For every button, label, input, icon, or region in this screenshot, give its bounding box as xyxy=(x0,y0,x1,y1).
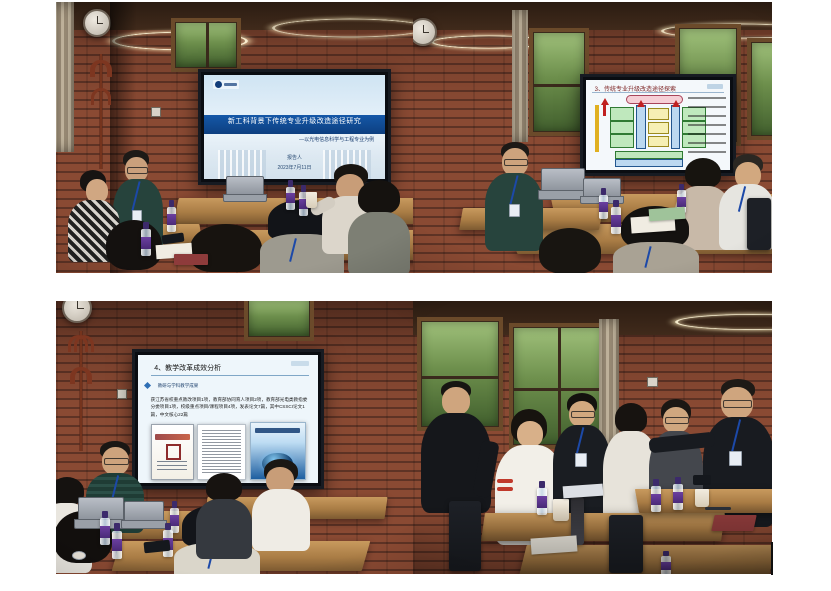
person-foreground xyxy=(533,228,609,273)
laptop-base xyxy=(223,194,267,202)
bottle-cap xyxy=(102,511,107,518)
bottle-label xyxy=(611,215,621,227)
slide-results-body: 获江苏省校重点教改项目1项，教育部协同育人项目2项，教育部光电类教指委分委项目1… xyxy=(151,396,309,418)
slide-subtitle-text: —以光电信息科学与工程专业为例 xyxy=(299,136,374,143)
window xyxy=(246,301,312,339)
window-frame xyxy=(747,38,772,140)
flow-box xyxy=(648,136,669,147)
hair xyxy=(206,473,242,501)
flow-column xyxy=(671,105,680,148)
notebook xyxy=(711,515,756,531)
documents xyxy=(649,207,686,221)
bottle-label xyxy=(673,492,683,503)
notebook xyxy=(174,254,208,265)
glasses-icon xyxy=(571,411,595,418)
flow-box xyxy=(648,108,669,120)
wall-switch-plate[interactable] xyxy=(117,389,127,399)
water-bottle xyxy=(673,477,683,510)
flow-column xyxy=(636,105,645,148)
torso xyxy=(196,499,252,559)
glasses-icon xyxy=(127,167,148,174)
flow-arrowhead-icon xyxy=(672,100,680,107)
flow-box xyxy=(648,122,669,134)
textbook-title-bar xyxy=(255,428,300,433)
bottle-cap xyxy=(539,481,544,488)
journal-text-lines xyxy=(157,461,187,473)
bottle-cap xyxy=(613,200,618,207)
person-attendee xyxy=(348,180,410,273)
journal-title-bar xyxy=(155,434,190,440)
laptop[interactable] xyxy=(541,168,583,200)
window-mullion xyxy=(534,84,584,87)
photo-bottom-left: 4、教学改革成效分析 教研与学科教学成果 获江苏省校重点教改项目1项，教育部协同… xyxy=(56,301,413,574)
text-cursor-caret xyxy=(771,542,773,575)
bottle-label xyxy=(599,202,608,213)
bottle-cap xyxy=(114,523,119,531)
laptop-lid xyxy=(124,501,164,522)
sleeve-stripe xyxy=(497,479,513,483)
curtain xyxy=(56,2,74,152)
coat-rack xyxy=(90,54,112,169)
bottle-cap xyxy=(653,479,658,486)
bottle-cap xyxy=(165,523,170,530)
badge xyxy=(729,451,742,466)
torso xyxy=(613,242,699,273)
bottle-cap xyxy=(143,222,148,229)
bottle-cap xyxy=(301,185,306,192)
coat-rack xyxy=(68,331,94,451)
bottle-cap xyxy=(169,200,174,207)
flow-arrowhead-icon xyxy=(601,98,609,105)
photo-top-left: 新工科背景下传统专业升级改造途径研究 —以光电信息科学与工程专业为例 报告人 2… xyxy=(56,2,413,273)
glasses-icon xyxy=(504,159,528,166)
university-logo-icon xyxy=(213,80,239,89)
journal-glyph-icon xyxy=(166,444,181,460)
logo-wordmark xyxy=(224,83,237,86)
flow-arrow-vertical xyxy=(603,103,607,116)
glasses-icon xyxy=(723,400,752,408)
hair xyxy=(685,158,721,188)
collage-page: 新工科背景下传统专业升级改造途径研究 —以光电信息科学与工程专业为例 报告人 2… xyxy=(0,0,831,591)
water-bottle xyxy=(537,481,547,515)
laptop-lid xyxy=(226,176,264,196)
flow-box xyxy=(610,134,634,148)
glasses-icon xyxy=(665,417,689,424)
photo-top-right: 3、传统专业升级改造途径探索 xyxy=(413,2,772,273)
bottle-label xyxy=(677,197,686,207)
bottle-label xyxy=(661,562,671,570)
flow-box xyxy=(610,121,634,135)
wall-switch-plate[interactable] xyxy=(647,377,658,387)
photo-row-bottom: 4、教学改革成效分析 教研与学科教学成果 获江苏省校重点教改项目1项，教育部协同… xyxy=(56,301,772,574)
flow-arrow-vertical xyxy=(595,105,599,152)
window-mullion xyxy=(514,388,602,391)
bottle-cap xyxy=(172,501,177,508)
water-bottle xyxy=(286,180,295,210)
water-bottle xyxy=(611,200,621,234)
paper-page xyxy=(197,424,246,480)
slide-title-band: 新工科背景下传统专业升级改造途径研究 xyxy=(204,115,385,135)
badge xyxy=(575,453,587,467)
logo-mark-icon xyxy=(215,81,222,88)
glasses-icon xyxy=(104,458,129,465)
pen xyxy=(705,507,731,510)
bottle-label xyxy=(100,526,110,538)
badge xyxy=(509,204,520,217)
water-bottle xyxy=(100,511,110,545)
bottle-label xyxy=(651,494,661,505)
laptop[interactable] xyxy=(226,176,262,202)
window-frame xyxy=(244,301,314,341)
head xyxy=(517,421,543,447)
bottle-cap xyxy=(675,477,680,484)
bottle-cap xyxy=(679,184,684,190)
hair xyxy=(615,403,647,433)
water-bottle xyxy=(112,523,122,559)
slide-side-text xyxy=(688,95,725,160)
phone[interactable] xyxy=(693,475,711,485)
head xyxy=(442,387,470,415)
documents xyxy=(530,535,577,554)
coat-hook-icon xyxy=(74,335,94,352)
window-mullion xyxy=(206,23,209,67)
coat-hook-icon xyxy=(91,88,111,105)
flow-arrowhead-icon xyxy=(637,100,645,107)
person-foreground xyxy=(184,224,268,273)
water-bottle xyxy=(661,551,671,574)
bottle-label xyxy=(141,237,151,249)
paper-cup xyxy=(306,192,317,208)
torso xyxy=(348,212,410,273)
hair xyxy=(539,228,601,273)
flow-box xyxy=(610,107,634,121)
slide-results-title: 4、教学改革成效分析 xyxy=(154,363,221,373)
water-bottle xyxy=(141,222,151,256)
water-bottle xyxy=(599,188,608,219)
sleeve-stripe xyxy=(497,487,513,491)
conference-table xyxy=(481,513,725,541)
slide-rule xyxy=(151,375,309,376)
paper-cup xyxy=(553,499,569,521)
bottle-label xyxy=(286,193,295,203)
window xyxy=(173,20,239,70)
hair xyxy=(358,180,400,214)
slide-author-text: 报告人 xyxy=(204,154,385,161)
flow-footer-box xyxy=(615,159,683,167)
laptop-lid xyxy=(541,168,585,192)
hair xyxy=(106,220,162,270)
window xyxy=(531,30,587,134)
bottle-cap xyxy=(288,180,293,187)
laptop[interactable] xyxy=(124,501,162,529)
slide-title-text: 新工科背景下传统专业升级改造途径研究 xyxy=(204,115,385,135)
journal-cover xyxy=(151,424,194,480)
bottle-cap xyxy=(663,551,668,556)
slide-rule xyxy=(592,92,725,93)
paper-cup xyxy=(695,489,709,507)
paper-text-columns xyxy=(202,430,241,473)
bottle-label xyxy=(112,539,122,551)
laptop-base xyxy=(121,520,167,529)
hair-tie xyxy=(72,551,86,560)
wall-clock-icon xyxy=(83,9,111,37)
bullet-icon xyxy=(144,382,151,389)
photo-row-top: 新工科背景下传统专业升级改造途径研究 —以光电信息科学与工程专业为例 报告人 2… xyxy=(56,2,772,273)
torso xyxy=(252,489,310,551)
flow-footer-box xyxy=(615,151,683,159)
slide-flowchart-page: 3、传统专业升级改造途径探索 xyxy=(586,80,730,170)
bottle-label xyxy=(537,496,547,508)
window xyxy=(749,40,772,138)
curtain xyxy=(512,10,528,142)
person-attendee xyxy=(196,473,252,559)
chair xyxy=(449,501,481,571)
photo-bottom-right xyxy=(413,301,772,574)
water-bottle xyxy=(651,479,661,512)
bottle-cap xyxy=(601,188,606,195)
coat-hook-icon xyxy=(72,367,92,384)
window-mullion xyxy=(422,376,498,379)
slide-results-bullet: 教研与学科教学成果 xyxy=(158,383,199,389)
wall-switch-plate[interactable] xyxy=(151,107,161,117)
chair xyxy=(747,198,771,250)
chair xyxy=(609,515,643,573)
slide-corner-logo-icon xyxy=(707,84,723,89)
coat-hook-icon xyxy=(92,60,112,77)
water-bottle xyxy=(167,200,176,232)
person-attendee xyxy=(252,459,310,551)
bottle-label xyxy=(167,214,176,225)
slide-corner-logo-icon xyxy=(291,361,309,366)
